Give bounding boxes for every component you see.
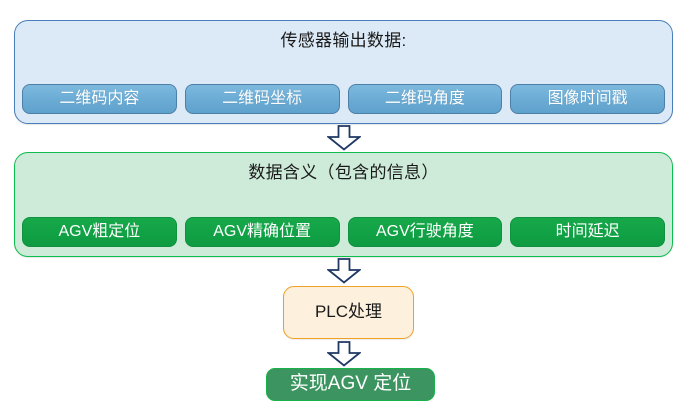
sensor-chip-qr-coordinate[interactable]: 二维码坐标: [185, 84, 340, 114]
meaning-chip-time-delay[interactable]: 时间延迟: [510, 217, 665, 247]
arrow-plc-to-result-icon: [327, 341, 361, 367]
meaning-chip-agv-coarse-position[interactable]: AGV粗定位: [22, 217, 177, 247]
data-meaning-group: 数据含义（包含的信息） AGV粗定位 AGV精确位置 AGV行驶角度 时间延迟: [14, 152, 673, 257]
meaning-chip-row: AGV粗定位 AGV精确位置 AGV行驶角度 时间延迟: [22, 217, 665, 247]
sensor-chip-qr-content[interactable]: 二维码内容: [22, 84, 177, 114]
sensor-output-group: 传感器输出数据: 二维码内容 二维码坐标 二维码角度 图像时间戳: [14, 20, 673, 124]
meaning-chip-agv-heading-angle[interactable]: AGV行驶角度: [348, 217, 503, 247]
sensor-chip-qr-angle[interactable]: 二维码角度: [348, 84, 503, 114]
meaning-chip-agv-precise-position[interactable]: AGV精确位置: [185, 217, 340, 247]
meaning-group-title: 数据含义（包含的信息）: [15, 161, 672, 185]
sensor-group-title: 传感器输出数据:: [15, 29, 672, 53]
arrow-sensor-to-meaning-icon: [327, 125, 361, 151]
sensor-chip-row: 二维码内容 二维码坐标 二维码角度 图像时间戳: [22, 84, 665, 114]
result-node-agv-localization[interactable]: 实现AGV 定位: [266, 368, 435, 401]
diagram-canvas: 传感器输出数据: 二维码内容 二维码坐标 二维码角度 图像时间戳 数据含义（包含…: [0, 0, 686, 419]
plc-process-node[interactable]: PLC处理: [283, 286, 414, 339]
sensor-chip-image-timestamp[interactable]: 图像时间戳: [510, 84, 665, 114]
arrow-meaning-to-plc-icon: [327, 258, 361, 284]
